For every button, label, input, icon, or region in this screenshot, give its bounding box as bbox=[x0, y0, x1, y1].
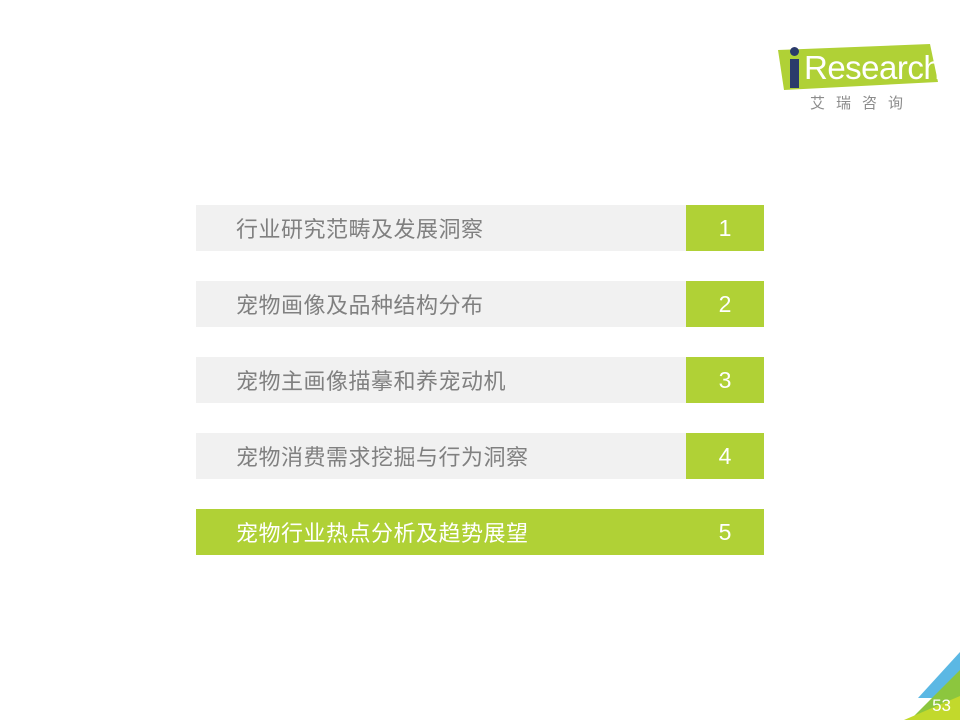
page-number: 53 bbox=[932, 697, 951, 714]
agenda-item-label: 宠物消费需求挖掘与行为洞察 bbox=[196, 433, 686, 479]
agenda-item-1[interactable]: 行业研究范畴及发展洞察 1 bbox=[196, 205, 764, 251]
agenda-list: 行业研究范畴及发展洞察 1 宠物画像及品种结构分布 2 宠物主画像描摹和养宠动机… bbox=[196, 205, 764, 585]
agenda-item-number: 5 bbox=[686, 509, 764, 555]
logo-i-dot-icon bbox=[790, 47, 799, 56]
agenda-item-5[interactable]: 宠物行业热点分析及趋势展望 5 bbox=[196, 509, 764, 555]
agenda-item-number: 2 bbox=[686, 281, 764, 327]
slide-canvas: Research 艾瑞咨询 行业研究范畴及发展洞察 1 宠物画像及品种结构分布 … bbox=[0, 0, 960, 720]
logo-chinese-name: 艾瑞咨询 bbox=[786, 92, 938, 113]
agenda-item-2[interactable]: 宠物画像及品种结构分布 2 bbox=[196, 281, 764, 327]
logo-i-stem-icon bbox=[790, 59, 799, 88]
agenda-item-number: 4 bbox=[686, 433, 764, 479]
agenda-item-4[interactable]: 宠物消费需求挖掘与行为洞察 4 bbox=[196, 433, 764, 479]
agenda-item-label: 宠物主画像描摹和养宠动机 bbox=[196, 357, 686, 403]
agenda-item-label: 宠物画像及品种结构分布 bbox=[196, 281, 686, 327]
iresearch-logo: Research 艾瑞咨询 bbox=[778, 44, 938, 122]
logo-wordmark: Research bbox=[804, 48, 941, 88]
logo-mark: Research bbox=[778, 44, 938, 90]
agenda-item-number: 1 bbox=[686, 205, 764, 251]
agenda-item-label: 宠物行业热点分析及趋势展望 bbox=[196, 509, 686, 555]
agenda-item-3[interactable]: 宠物主画像描摹和养宠动机 3 bbox=[196, 357, 764, 403]
agenda-item-number: 3 bbox=[686, 357, 764, 403]
agenda-item-label: 行业研究范畴及发展洞察 bbox=[196, 205, 686, 251]
